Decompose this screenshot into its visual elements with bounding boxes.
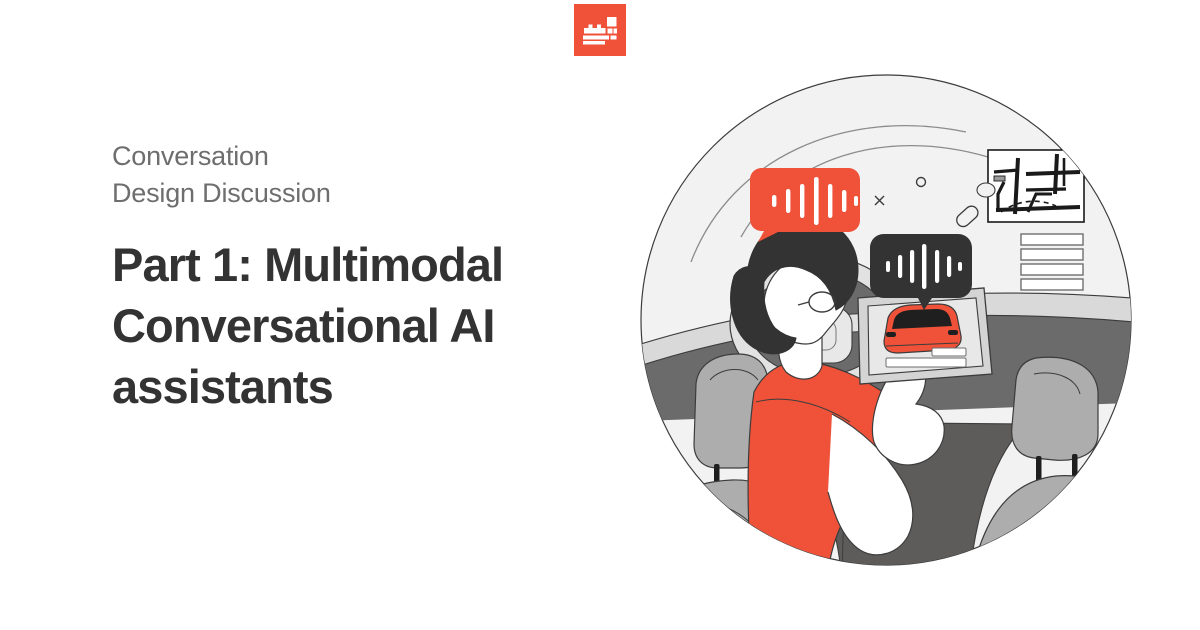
navigation-map-panel [977, 150, 1084, 222]
page-title: Part 1: Multimodal Conversational AI ass… [112, 234, 612, 417]
eyebrow-text: Conversation Design Discussion [112, 138, 612, 212]
slide-canvas: Conversation Design Discussion Part 1: M… [0, 0, 1200, 630]
car-interior-voice-assistant-illustration [636, 62, 1136, 582]
text-block: Conversation Design Discussion Part 1: M… [112, 138, 612, 417]
car-on-screen [884, 304, 961, 353]
brand-logo[interactable] [574, 4, 626, 56]
brand-logo-glyph [574, 4, 626, 56]
user-voice-waveform-bubble [750, 168, 860, 242]
